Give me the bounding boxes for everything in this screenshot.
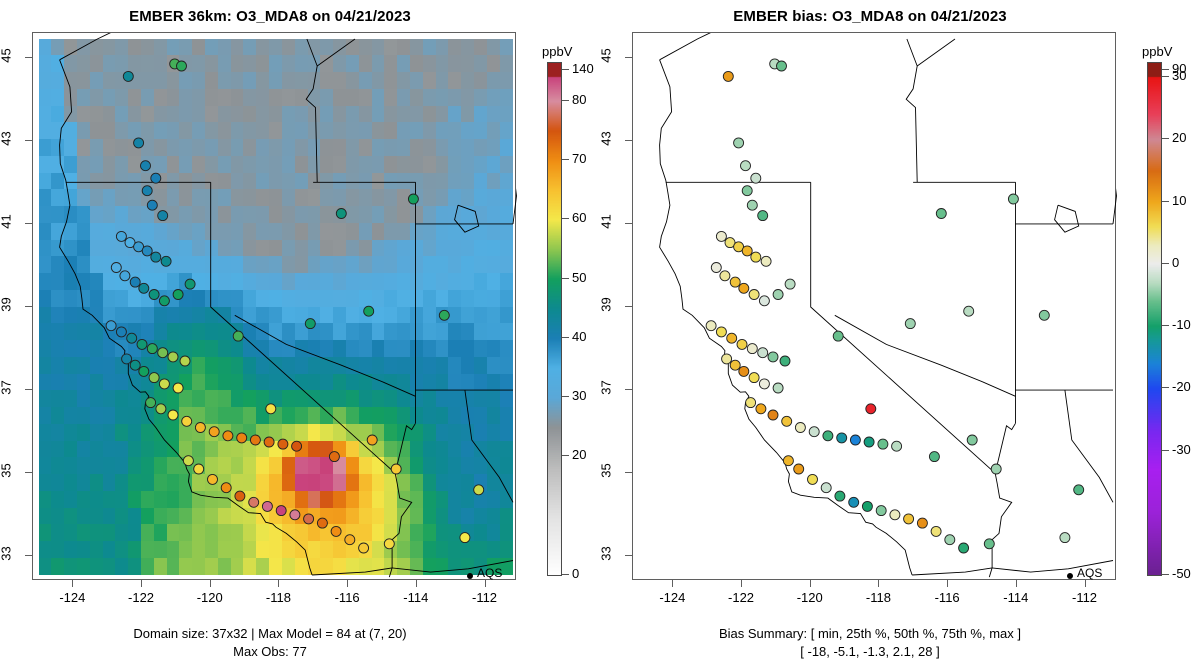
aqs-station-marker[interactable]: [739, 366, 749, 376]
aqs-station-marker[interactable]: [945, 535, 955, 545]
y-axis-label: 45: [599, 31, 614, 79]
x-axis-tick: [210, 580, 211, 587]
aqs-station-marker[interactable]: [727, 333, 737, 343]
y-axis-label: 45: [0, 31, 14, 79]
aqs-station-marker[interactable]: [837, 433, 847, 443]
aqs-station-marker[interactable]: [1008, 194, 1018, 204]
aqs-station-marker[interactable]: [768, 352, 778, 362]
colorbar-tick: [562, 218, 569, 219]
x-axis-label: -114: [986, 590, 1046, 605]
panel-bias-caption-1: Bias Summary: [ min, 25th %, 50th %, 75t…: [600, 626, 1140, 641]
aqs-station-marker[interactable]: [959, 543, 969, 553]
aqs-station-marker[interactable]: [862, 501, 872, 511]
panel-model-caption-1: Domain size: 37x32 | Max Model = 84 at (…: [0, 626, 540, 641]
panel-bias-caption-2: [ -18, -5.1, -1.3, 2.1, 28 ]: [600, 644, 1140, 659]
map-boundary-line: [660, 33, 715, 60]
y-axis-tick: [25, 389, 32, 390]
colorbar-tick-label: 70: [572, 151, 586, 166]
colorbar-model: ppbV 020304050607080140: [536, 0, 600, 672]
x-axis-tick: [141, 580, 142, 587]
x-axis-label: -116: [917, 590, 977, 605]
aqs-station-marker[interactable]: [706, 321, 716, 331]
colorbar-bias: ppbV -50-30-20-10010203090: [1136, 0, 1200, 672]
x-axis-label: -120: [180, 590, 240, 605]
aqs-station-marker[interactable]: [1074, 485, 1084, 495]
aqs-station-marker[interactable]: [964, 306, 974, 316]
aqs-station-marker[interactable]: [967, 435, 977, 445]
aqs-station-marker[interactable]: [878, 439, 888, 449]
x-axis-tick: [947, 580, 948, 587]
map-boundary-line: [835, 315, 983, 382]
aqs-station-marker[interactable]: [730, 277, 740, 287]
colorbar-tick: [1162, 574, 1169, 575]
map-boundary-line: [1055, 205, 1079, 232]
map-boundary-line: [912, 568, 992, 577]
aqs-station-marker[interactable]: [751, 252, 761, 262]
aqs-station-marker[interactable]: [768, 410, 778, 420]
x-axis-tick: [741, 580, 742, 587]
colorbar-bias-gradient: [1147, 62, 1162, 576]
colorbar-tick: [1162, 76, 1169, 77]
bias-map-overlay: [633, 33, 1117, 581]
colorbar-tick: [562, 69, 569, 70]
aqs-legend-label-bias: AQS: [1077, 566, 1102, 580]
colorbar-tick: [562, 159, 569, 160]
aqs-station-marker[interactable]: [782, 416, 792, 426]
colorbar-tick-label: 90: [1172, 61, 1186, 76]
y-axis-label: 35: [0, 447, 14, 495]
x-axis-label: -124: [42, 590, 102, 605]
x-axis-tick: [416, 580, 417, 587]
x-axis-tick: [72, 580, 73, 587]
aqs-station-marker[interactable]: [780, 356, 790, 366]
colorbar-bias-title: ppbV: [1142, 44, 1172, 59]
x-axis-tick: [1016, 580, 1017, 587]
colorbar-tick: [1162, 263, 1169, 264]
figure-root: EMBER 36km: O3_MDA8 on 04/21/2023 AQS -1…: [0, 0, 1200, 672]
aqs-station-marker[interactable]: [722, 354, 732, 364]
aqs-station-marker[interactable]: [734, 138, 744, 148]
aqs-station-marker[interactable]: [931, 526, 941, 536]
aqs-legend-label-model: AQS: [477, 566, 502, 580]
aqs-station-marker[interactable]: [785, 279, 795, 289]
aqs-station-marker[interactable]: [929, 452, 939, 462]
aqs-station-marker[interactable]: [773, 383, 783, 393]
aqs-station-marker[interactable]: [759, 296, 769, 306]
y-axis-label: 35: [599, 447, 614, 495]
x-axis-label: -112: [1055, 590, 1115, 605]
colorbar-tick-label: -30: [1172, 442, 1191, 457]
aqs-station-marker[interactable]: [905, 319, 915, 329]
aqs-station-marker[interactable]: [833, 331, 843, 341]
y-axis-label: 33: [0, 530, 14, 578]
y-axis-label: 43: [0, 114, 14, 162]
x-axis-tick: [1085, 580, 1086, 587]
aqs-station-marker[interactable]: [749, 373, 759, 383]
aqs-station-marker[interactable]: [742, 246, 752, 256]
aqs-station-marker[interactable]: [725, 238, 735, 248]
aqs-station-marker[interactable]: [739, 283, 749, 293]
y-axis-label: 39: [0, 281, 14, 329]
aqs-station-marker[interactable]: [866, 404, 876, 414]
y-axis-tick: [25, 140, 32, 141]
aqs-station-marker[interactable]: [756, 404, 766, 414]
aqs-station-marker[interactable]: [808, 474, 818, 484]
colorbar-tick-label: 40: [572, 329, 586, 344]
colorbar-tick: [1162, 450, 1169, 451]
colorbar-tick-label: 20: [1172, 130, 1186, 145]
y-axis-tick: [625, 306, 632, 307]
aqs-station-marker[interactable]: [1039, 310, 1049, 320]
x-axis-tick: [810, 580, 811, 587]
y-axis-label: 41: [599, 197, 614, 245]
y-axis-tick: [625, 472, 632, 473]
map-boundary-line: [995, 423, 1015, 473]
map-boundary-line: [906, 39, 917, 182]
map-boundary-line: [983, 382, 1016, 397]
y-axis-label: 33: [599, 530, 614, 578]
colorbar-tick: [562, 396, 569, 397]
colorbar-tick-label: 0: [1172, 255, 1179, 270]
aqs-station-marker[interactable]: [783, 456, 793, 466]
y-axis-tick: [25, 555, 32, 556]
aqs-station-marker[interactable]: [749, 290, 759, 300]
aqs-station-marker[interactable]: [734, 242, 744, 252]
colorbar-tick-label: 10: [1172, 193, 1186, 208]
colorbar-tick-label: 0: [572, 566, 579, 581]
aqs-station-marker[interactable]: [823, 431, 833, 441]
x-axis-tick: [278, 580, 279, 587]
map-boundary-line: [811, 182, 996, 473]
colorbar-tick: [562, 337, 569, 338]
panel-model-title: EMBER 36km: O3_MDA8 on 04/21/2023: [0, 8, 540, 25]
colorbar-tick: [1162, 387, 1169, 388]
aqs-station-marker[interactable]: [892, 441, 902, 451]
aqs-station-marker[interactable]: [809, 427, 819, 437]
y-axis-label: 43: [599, 114, 614, 162]
colorbar-tick-label: 20: [572, 447, 586, 462]
aqs-legend-dot-model: [467, 573, 473, 579]
aqs-station-marker[interactable]: [770, 59, 780, 69]
aqs-station-marker[interactable]: [864, 437, 874, 447]
map-boundary-line: [1065, 390, 1113, 502]
aqs-station-marker[interactable]: [849, 497, 859, 507]
aqs-station-marker[interactable]: [759, 379, 769, 389]
x-axis-label: -122: [111, 590, 171, 605]
aqs-station-marker[interactable]: [742, 186, 752, 196]
y-axis-tick: [625, 223, 632, 224]
panel-model: EMBER 36km: O3_MDA8 on 04/21/2023 AQS -1…: [0, 0, 600, 672]
aqs-station-marker[interactable]: [716, 231, 726, 241]
aqs-station-marker[interactable]: [737, 339, 747, 349]
y-axis-label: 41: [0, 197, 14, 245]
y-axis-tick: [25, 57, 32, 58]
colorbar-tick-label: -20: [1172, 379, 1191, 394]
aqs-station-marker[interactable]: [761, 256, 771, 266]
y-axis-tick: [625, 140, 632, 141]
aqs-station-marker[interactable]: [936, 209, 946, 219]
colorbar-tick: [562, 278, 569, 279]
colorbar-tick-label: 140: [572, 61, 594, 76]
aqs-station-marker[interactable]: [773, 290, 783, 300]
panel-model-plot-area: AQS: [32, 32, 516, 580]
aqs-station-marker[interactable]: [821, 483, 831, 493]
x-axis-label: -118: [248, 590, 308, 605]
panel-bias-plot-area: AQS: [632, 32, 1116, 580]
y-axis-label: 37: [0, 364, 14, 412]
map-boundary-line: [1113, 182, 1117, 224]
aqs-station-marker[interactable]: [835, 491, 845, 501]
aqs-station-marker[interactable]: [741, 161, 751, 171]
map-boundary-line: [917, 39, 955, 66]
aqs-station-marker[interactable]: [730, 360, 740, 370]
aqs-station-marker[interactable]: [850, 435, 860, 445]
aqs-station-marker[interactable]: [904, 514, 914, 524]
colorbar-tick-label: 60: [572, 210, 586, 225]
colorbar-tick-label: -50: [1172, 566, 1191, 581]
aqs-station-marker[interactable]: [747, 344, 757, 354]
y-axis-tick: [25, 223, 32, 224]
colorbar-tick: [562, 574, 569, 575]
aqs-station-marker[interactable]: [720, 271, 730, 281]
y-axis-tick: [25, 472, 32, 473]
aqs-station-marker[interactable]: [795, 423, 805, 433]
map-boundary-line: [513, 182, 517, 224]
x-axis-label: -120: [780, 590, 840, 605]
aqs-station-marker[interactable]: [747, 200, 757, 210]
colorbar-tick: [1162, 69, 1169, 70]
aqs-station-marker[interactable]: [777, 61, 787, 71]
aqs-station-marker[interactable]: [876, 506, 886, 516]
y-axis-label: 37: [599, 364, 614, 412]
aqs-station-marker[interactable]: [758, 348, 768, 358]
aqs-station-marker[interactable]: [991, 464, 1001, 474]
colorbar-model-gradient: [547, 62, 562, 576]
x-axis-label: -118: [848, 590, 908, 605]
aqs-station-marker[interactable]: [1060, 533, 1070, 543]
colorbar-tick: [1162, 325, 1169, 326]
aqs-station-marker[interactable]: [917, 518, 927, 528]
panel-bias-title: EMBER bias: O3_MDA8 on 04/21/2023: [600, 8, 1140, 25]
aqs-legend-dot-bias: [1067, 573, 1073, 579]
aqs-station-marker[interactable]: [751, 173, 761, 183]
colorbar-tick: [562, 100, 569, 101]
y-axis-tick: [25, 306, 32, 307]
x-axis-label: -112: [455, 590, 515, 605]
aqs-station-marker[interactable]: [716, 327, 726, 337]
x-axis-label: -114: [386, 590, 446, 605]
aqs-station-marker[interactable]: [723, 71, 733, 81]
aqs-station-marker[interactable]: [984, 539, 994, 549]
panel-bias: EMBER bias: O3_MDA8 on 04/21/2023 AQS -1…: [600, 0, 1200, 672]
map-boundary-line: [992, 473, 1012, 568]
colorbar-tick-label: 80: [572, 92, 586, 107]
colorbar-tick-label: 50: [572, 270, 586, 285]
map-boundary-line: [660, 60, 913, 575]
y-axis-tick: [625, 555, 632, 556]
x-axis-tick: [672, 580, 673, 587]
x-axis-label: -122: [711, 590, 771, 605]
y-axis-tick: [625, 57, 632, 58]
y-axis-label: 39: [599, 281, 614, 329]
aqs-station-marker[interactable]: [746, 398, 756, 408]
x-axis-tick: [485, 580, 486, 587]
aqs-station-marker[interactable]: [794, 464, 804, 474]
colorbar-tick: [1162, 201, 1169, 202]
panel-model-caption-2: Max Obs: 77: [0, 644, 540, 659]
x-axis-label: -124: [642, 590, 702, 605]
colorbar-tick: [562, 455, 569, 456]
colorbar-tick-label: -10: [1172, 317, 1191, 332]
x-axis-label: -116: [317, 590, 377, 605]
colorbar-model-title: ppbV: [542, 44, 572, 59]
aqs-station-marker[interactable]: [890, 510, 900, 520]
model-raster: [39, 39, 513, 575]
x-axis-tick: [878, 580, 879, 587]
aqs-station-marker[interactable]: [711, 263, 721, 273]
y-axis-tick: [625, 389, 632, 390]
colorbar-tick-label: 30: [572, 388, 586, 403]
x-axis-tick: [347, 580, 348, 587]
aqs-station-marker[interactable]: [758, 211, 768, 221]
colorbar-tick: [1162, 138, 1169, 139]
